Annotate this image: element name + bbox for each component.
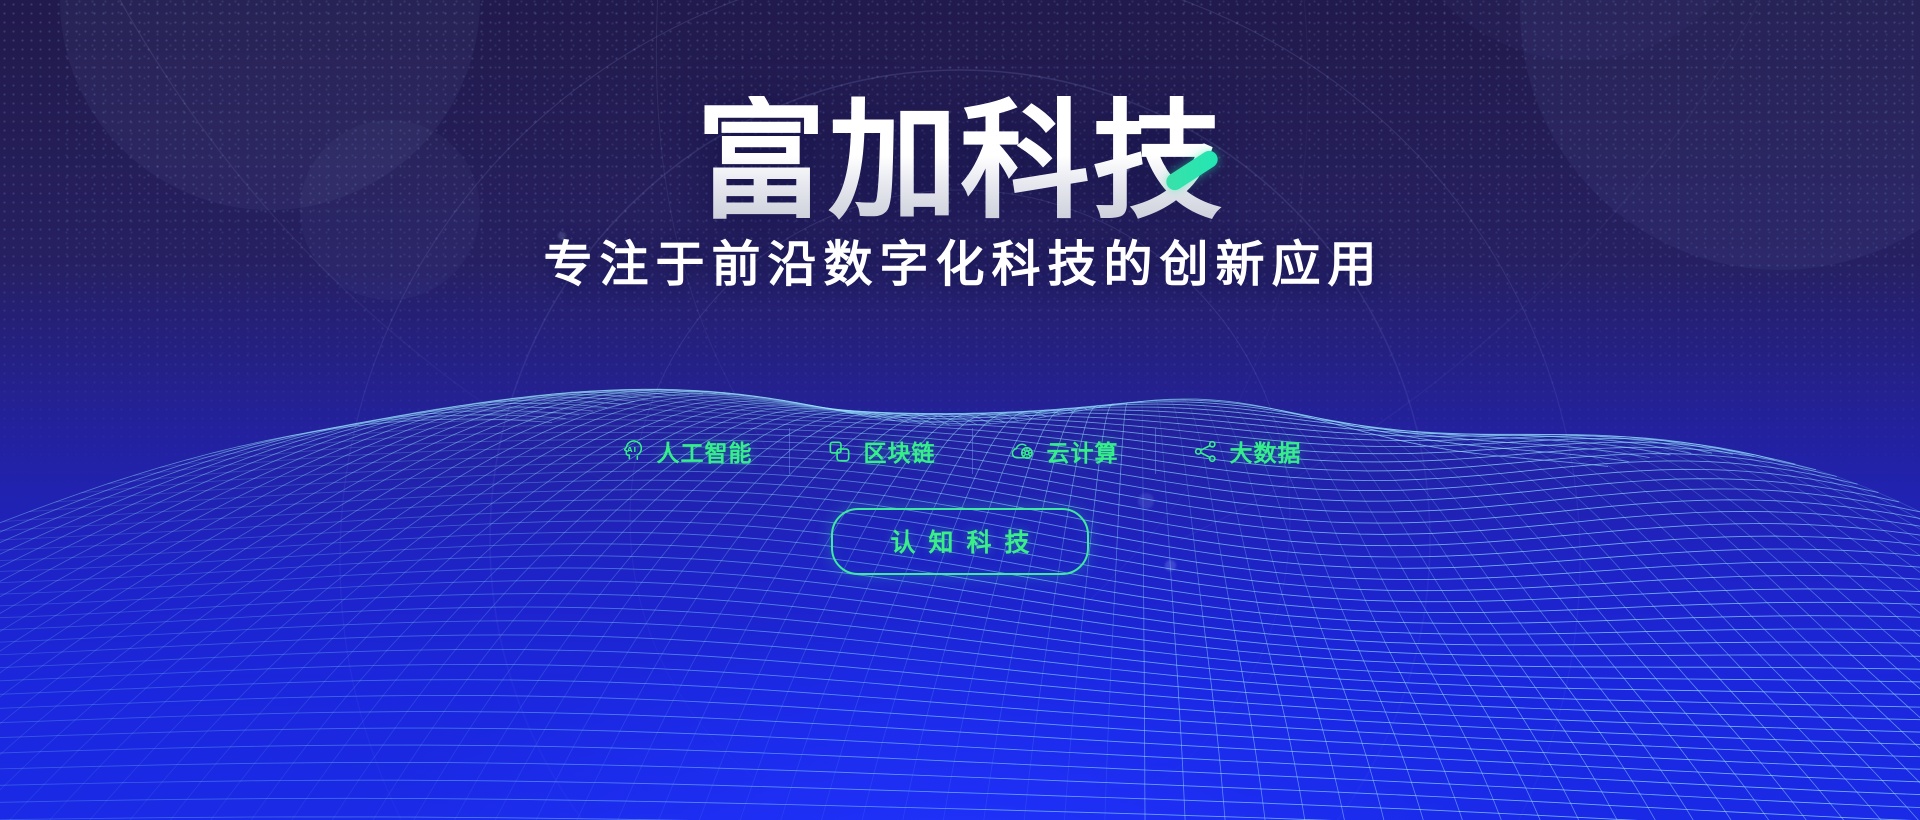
feature-item-cloud[interactable]: 云计算 bbox=[972, 428, 1155, 474]
feature-list: AI 人工智能 区块链 bbox=[0, 428, 1920, 474]
feature-label: 人工智能 bbox=[657, 434, 753, 468]
cta-container: 认知科技 bbox=[0, 508, 1920, 575]
brand-title: 富加科技 bbox=[0, 96, 1920, 226]
ai-head-icon: AI bbox=[619, 438, 646, 465]
feature-label: 云计算 bbox=[1047, 434, 1119, 468]
feature-item-blockchain[interactable]: 区块链 bbox=[789, 428, 972, 474]
hero-banner: 富加科技 专注于前沿数字化科技的创新应用 AI 人工智能 bbox=[0, 0, 1920, 820]
share-nodes-icon bbox=[1192, 438, 1219, 465]
cloud-gear-icon bbox=[1009, 438, 1036, 465]
feature-label: 大数据 bbox=[1230, 434, 1302, 468]
tagline: 专注于前沿数字化科技的创新应用 bbox=[0, 240, 1920, 289]
blockchain-icon bbox=[826, 438, 853, 465]
feature-item-ai[interactable]: AI 人工智能 bbox=[583, 428, 789, 474]
feature-item-bigdata[interactable]: 大数据 bbox=[1155, 428, 1338, 474]
svg-text:AI: AI bbox=[627, 445, 637, 454]
cta-button[interactable]: 认知科技 bbox=[831, 508, 1088, 575]
feature-label: 区块链 bbox=[864, 434, 936, 468]
